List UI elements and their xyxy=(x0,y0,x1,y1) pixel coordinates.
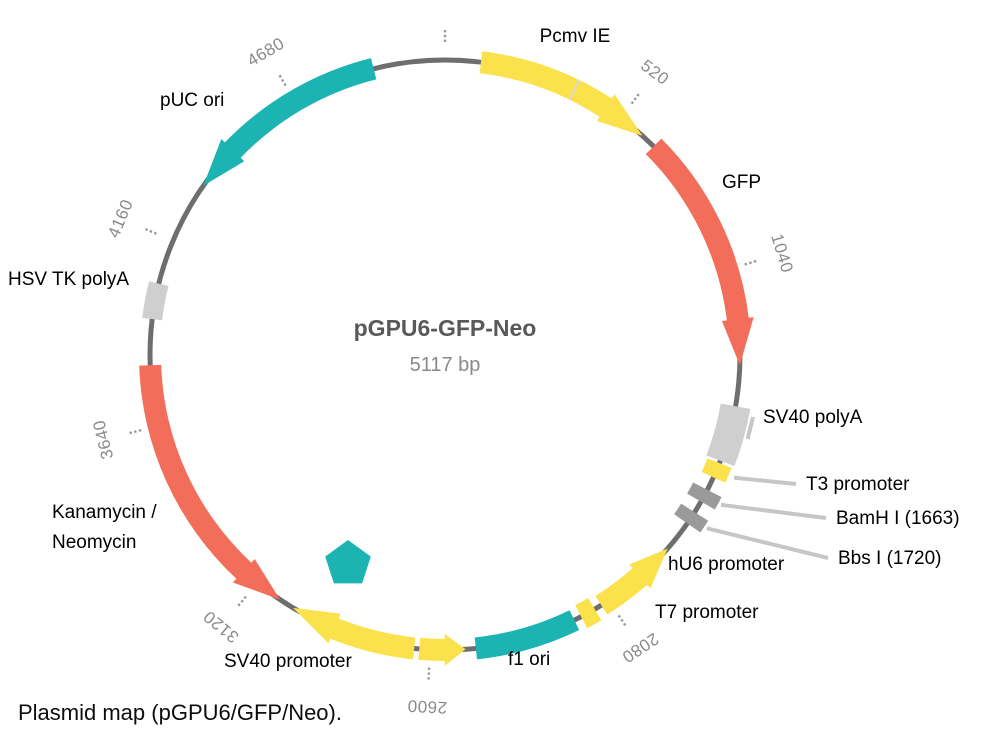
feature-bamhi-site-arc[interactable] xyxy=(687,483,722,510)
feature-hsv-tk-polya-label: HSV TK polyA xyxy=(8,269,129,290)
feature-bamhi-site-label: BamH I (1663) xyxy=(836,508,960,529)
tick-label-3120: 3120 xyxy=(200,607,243,647)
feature-f1-ori-label: f1 ori xyxy=(508,649,550,670)
feature-kanamycin-neomycin-arc[interactable] xyxy=(139,365,280,600)
feature-t7-promoter-label: T7 promoter xyxy=(655,602,759,623)
feature-puc-ori-arc[interactable] xyxy=(203,58,376,186)
feature-bamhi-site-leader xyxy=(721,505,826,518)
tick-mark-520 xyxy=(632,94,639,104)
feature-sv40-promoter-label: SV40 promoter xyxy=(224,651,352,672)
tick-label-4160: 4160 xyxy=(104,197,137,241)
feature-t3-promoter-label: T3 promoter xyxy=(806,474,910,495)
tick-mark-2080 xyxy=(619,615,626,625)
tick-mark-2600 xyxy=(429,668,430,680)
tick-label-1040: 1040 xyxy=(767,231,797,275)
plasmid-size: 5117 bp xyxy=(410,354,481,376)
tick-label-2080: 2080 xyxy=(618,629,662,667)
feature-t7-promoter-arc[interactable] xyxy=(575,598,601,628)
feature-pcmv-ie-arc[interactable] xyxy=(480,51,643,135)
plasmid-name: pGPU6-GFP-Neo xyxy=(354,315,537,341)
feature-t3-promoter-leader xyxy=(734,478,796,484)
center-text-group: pGPU6-GFP-Neo 5117 bp xyxy=(354,315,537,376)
tick-label-3640: 3640 xyxy=(89,418,117,461)
feature-hu6-promoter-label: hU6 promoter xyxy=(668,554,785,575)
tick-mark-4160 xyxy=(145,229,156,234)
feature-gfp-label: GFP xyxy=(722,172,761,193)
feature-bbsi-site-arc[interactable] xyxy=(674,504,708,533)
plasmid-map-svg: 5201040208026003120364041604680 Pcmv IEG… xyxy=(0,0,982,744)
tick-mark-4680 xyxy=(280,75,286,85)
feature-puc-ori-label: pUC ori xyxy=(160,90,224,111)
tick-label-2600: 2600 xyxy=(407,696,448,717)
feature-sv40-small-arrow-arc[interactable] xyxy=(418,634,465,666)
feature-sv40-polya-label: SV40 polyA xyxy=(763,407,863,428)
feature-bbsi-site-label: Bbs I (1720) xyxy=(838,548,942,569)
feature-sv40-polya-arc[interactable] xyxy=(706,404,750,466)
tick-mark-1040 xyxy=(745,261,756,264)
tick-label-4680: 4680 xyxy=(244,34,288,71)
internal-marker-pentagon[interactable] xyxy=(325,540,371,583)
feature-kanamycin-neomycin-label: Kanamycin /Neomycin xyxy=(52,502,157,553)
internal-marker-group xyxy=(325,540,371,583)
tick-label-520: 520 xyxy=(637,56,672,89)
figure-caption: Plasmid map (pGPU6/GFP/Neo). xyxy=(18,700,342,726)
feature-pcmv-ie-label: Pcmv IE xyxy=(540,26,611,47)
feature-sv40-polya-leader xyxy=(748,417,753,439)
plasmid-map: 5201040208026003120364041604680 Pcmv IEG… xyxy=(0,0,982,744)
tick-mark-3120 xyxy=(238,597,246,606)
tick-mark-3640 xyxy=(130,430,142,433)
feature-hsv-tk-polya-arc[interactable] xyxy=(142,281,168,320)
